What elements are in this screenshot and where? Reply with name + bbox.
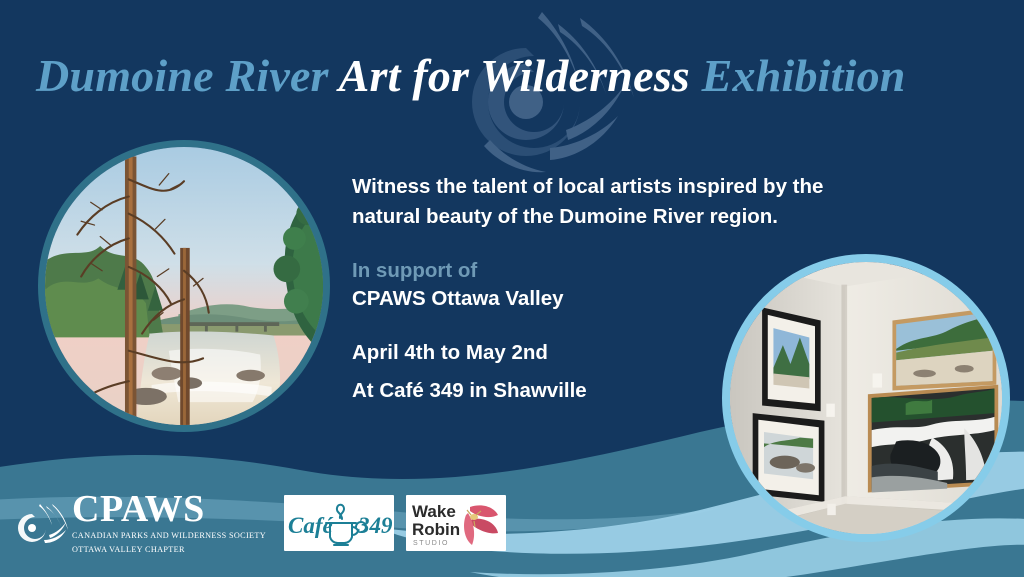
- cafe-number: 349: [357, 513, 392, 538]
- framed-painting-4: [868, 385, 998, 493]
- painting-circle-image: [38, 140, 330, 432]
- title-part-2: Art for Wilderness: [339, 50, 690, 101]
- gallery-circle-image: [722, 254, 1010, 542]
- title-part-1: Dumoine River: [36, 50, 329, 101]
- framed-print-1: [762, 307, 821, 411]
- page-title: Dumoine River Art for Wilderness Exhibit…: [36, 52, 996, 100]
- wake-robin-mark: Wake Robin STUDIO: [408, 497, 504, 549]
- gallery-wall-photo: [730, 262, 1002, 534]
- sponsor-logo-row: CPAWS CANADIAN PARKS AND WILDERNESS SOCI…: [18, 491, 506, 555]
- exhibition-poster: Dumoine River Art for Wilderness Exhibit…: [0, 0, 1024, 577]
- framed-painting-3: [892, 307, 996, 390]
- cpaws-tagline-line1: CANADIAN PARKS AND WILDERNESS SOCIETY: [72, 530, 266, 541]
- title-part-3: Exhibition: [702, 50, 906, 101]
- coffee-cup-icon: [326, 505, 358, 545]
- trillium-flower-icon: [464, 505, 498, 545]
- lede-text: Witness the talent of local artists insp…: [352, 172, 852, 231]
- framed-print-2: [753, 413, 825, 502]
- cpaws-swirl-icon: [18, 502, 68, 544]
- cafe-word: Café: [288, 513, 334, 538]
- wake-robin-studio-logo[interactable]: Wake Robin STUDIO: [406, 495, 506, 551]
- cafe-349-logo[interactable]: Café 349: [284, 495, 394, 551]
- dumoine-river-painting: [45, 147, 323, 425]
- support-label: In support of: [352, 259, 852, 283]
- cpaws-wordmark: CPAWS: [72, 491, 266, 527]
- cpaws-tagline-line2: OTTAWA VALLEY CHAPTER: [72, 544, 266, 555]
- cpaws-logo[interactable]: CPAWS CANADIAN PARKS AND WILDERNESS SOCI…: [18, 491, 272, 555]
- robin-word: Robin: [412, 520, 460, 539]
- wake-word: Wake: [412, 502, 456, 521]
- cafe-349-mark: Café 349: [286, 497, 392, 549]
- studio-word: STUDIO: [413, 540, 449, 547]
